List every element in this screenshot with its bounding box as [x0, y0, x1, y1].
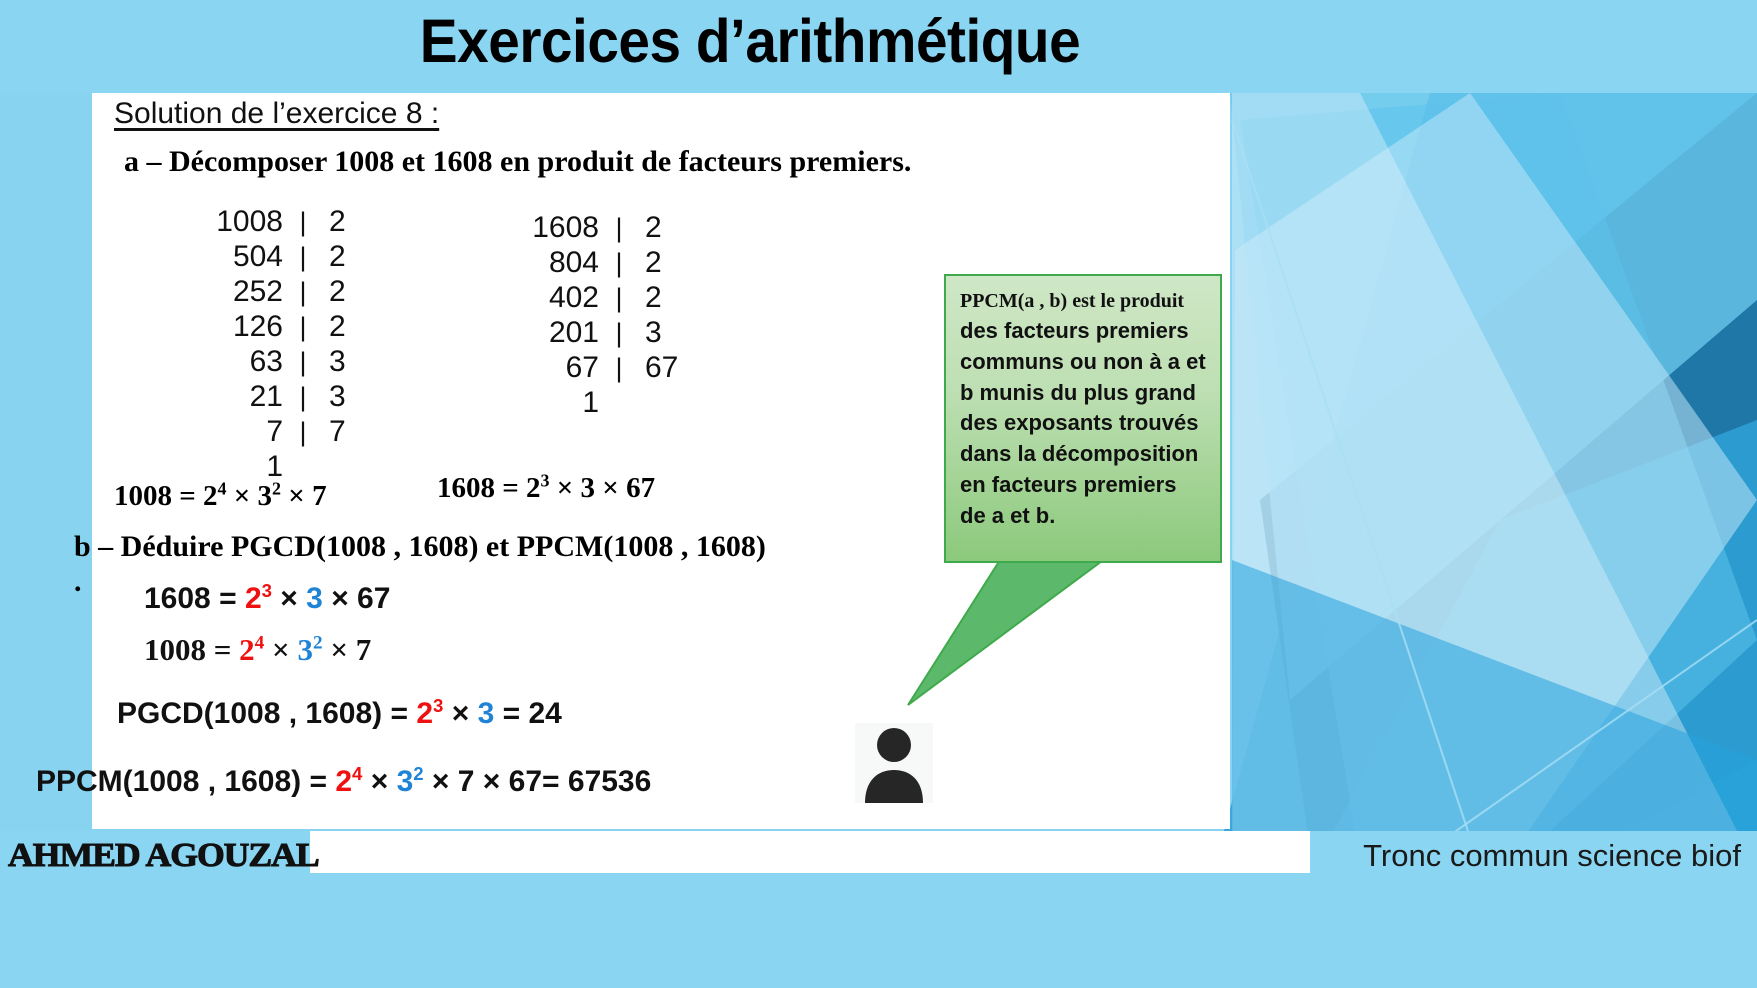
divider-bar-icon: |: [283, 415, 323, 450]
exponent-red: 3: [262, 580, 272, 601]
divisor: 2: [323, 205, 399, 239]
base-2-red: 2: [239, 632, 255, 667]
ppcm-lhs: PPCM(1008 , 1608) =: [36, 765, 335, 798]
exponent-red: 4: [255, 633, 265, 654]
divisor: 2: [323, 310, 399, 344]
dividend: 402: [504, 281, 599, 315]
table-row: 63 | 3: [188, 345, 399, 380]
decomposition-1608-lhs: 1608 =: [437, 472, 526, 504]
divider-bar-icon: |: [283, 275, 323, 310]
divisor: 3: [639, 316, 715, 350]
division-table-1608: 1608 | 2 804 | 2 402 | 2 201 | 3 67 | 67…: [504, 211, 715, 421]
dividend: 126: [188, 310, 283, 344]
times-operator: ×: [264, 632, 297, 667]
result-1008-lhs: 1008 =: [144, 632, 239, 667]
base-2-red: 2: [416, 697, 433, 730]
table-row: 201 | 3: [504, 316, 715, 351]
dividend: 63: [188, 345, 283, 379]
table-row: 1008 | 2: [188, 205, 399, 240]
divisor: 2: [323, 275, 399, 309]
exponent-blue: 2: [413, 763, 423, 784]
pgcd-result: PGCD(1008 , 1608) = 23 × 3 = 24: [117, 697, 562, 731]
exponent: 3: [541, 470, 550, 490]
footer-course-label: Tronc commun science biof: [1363, 838, 1741, 874]
times-operator: ×: [550, 472, 581, 504]
divisor: 3: [323, 345, 399, 379]
divider-bar-icon: |: [599, 246, 639, 281]
times-operator: ×: [595, 472, 626, 504]
base-2-red: 2: [245, 582, 262, 615]
table-row: 402 | 2: [504, 281, 715, 316]
bullet-marker: .: [74, 565, 82, 599]
decomposition-1608: 1608 = 23 × 3 × 67: [437, 472, 655, 505]
times-operator: ×: [443, 697, 477, 730]
divisor: 2: [639, 281, 715, 315]
base-3-blue: 3: [397, 765, 414, 798]
divider-bar-icon: |: [283, 205, 323, 240]
base-3: 3: [581, 472, 596, 504]
table-row: 21 | 3: [188, 380, 399, 415]
callout-box: PPCM(a , b) est le produit des facteurs …: [944, 274, 1222, 563]
pgcd-lhs: PGCD(1008 , 1608) =: [117, 697, 416, 730]
ppcm-result: PPCM(1008 , 1608) = 24 × 32 × 7 × 67= 67…: [36, 765, 651, 799]
divisor: 2: [639, 211, 715, 245]
dividend: 1: [504, 386, 599, 420]
dividend: 7: [188, 415, 283, 449]
exponent: 2: [272, 478, 281, 498]
times-operator: ×: [362, 765, 396, 798]
dividend: 1: [188, 450, 283, 484]
divider-bar-spacer: [599, 386, 639, 421]
times-operator: ×: [227, 480, 258, 512]
base-7: 7: [312, 480, 327, 512]
dividend: 201: [504, 316, 599, 350]
result-line-1608: 1608 = 23 × 3 × 67: [144, 582, 390, 616]
exponent-blue: 2: [313, 633, 323, 654]
decomposition-1008: 1008 = 24 × 32 × 7: [114, 480, 327, 513]
result-1608-lhs: 1608 =: [144, 582, 245, 615]
base-3: 3: [258, 480, 273, 512]
callout-first-line: PPCM(a , b) est le produit: [960, 290, 1206, 313]
divider-bar-icon: |: [599, 351, 639, 386]
table-row: 126 | 2: [188, 310, 399, 345]
divisor: 3: [323, 380, 399, 414]
base-3-blue: 3: [306, 582, 323, 615]
dividend: 21: [188, 380, 283, 414]
dividend: 252: [188, 275, 283, 309]
dividend: 67: [504, 351, 599, 385]
question-a-label: a – Décomposer 1008 et 1608 en produit d…: [124, 145, 911, 179]
exponent: 4: [218, 478, 227, 498]
base-67: 67: [626, 472, 655, 504]
times-operator: ×: [281, 480, 312, 512]
divider-bar-icon: |: [283, 310, 323, 345]
pgcd-value: = 24: [494, 697, 562, 730]
exponent-red: 3: [433, 695, 443, 716]
divider-bar-icon: |: [283, 345, 323, 380]
dividend: 804: [504, 246, 599, 280]
person-icon: [855, 723, 933, 803]
ppcm-value: × 7 × 67= 67536: [424, 765, 652, 798]
dividend: 504: [188, 240, 283, 274]
footer-white-strip: [310, 831, 1310, 873]
person-avatar: [855, 723, 933, 803]
divisor: 2: [323, 240, 399, 274]
exponent-red: 4: [352, 763, 362, 784]
table-row: 804 | 2: [504, 246, 715, 281]
result-1008-tail: × 7: [323, 632, 372, 667]
result-line-1008: 1008 = 24 × 32 × 7: [144, 632, 371, 668]
question-b-label: b – Déduire PGCD(1008 , 1608) et PPCM(10…: [74, 530, 766, 564]
divider-bar-icon: |: [283, 380, 323, 415]
table-row: 67 | 67: [504, 351, 715, 386]
times-operator: ×: [272, 582, 306, 615]
table-row: 504 | 2: [188, 240, 399, 275]
divider-bar-icon: |: [599, 281, 639, 316]
table-row: 1608 | 2: [504, 211, 715, 246]
division-table-1008: 1008 | 2 504 | 2 252 | 2 126 | 2 63 | 3 …: [188, 205, 399, 485]
divisor: 67: [639, 351, 715, 385]
base-2-red: 2: [335, 765, 352, 798]
result-1608-tail: × 67: [323, 582, 391, 615]
table-row: 1: [504, 386, 715, 421]
slide-title: Exercices d’arithmétique: [53, 6, 1448, 76]
dividend: 1008: [188, 205, 283, 239]
divider-bar-icon: |: [599, 316, 639, 351]
divisor: 7: [323, 415, 399, 449]
base-2: 2: [526, 472, 541, 504]
callout-body-text: des facteurs premiers communs ou non à a…: [960, 316, 1206, 532]
author-name: AHMED AGOUZAL: [8, 837, 319, 875]
divider-bar-icon: |: [599, 211, 639, 246]
table-row: 252 | 2: [188, 275, 399, 310]
dividend: 1608: [504, 211, 599, 245]
base-2: 2: [203, 480, 218, 512]
table-row: 7 | 7: [188, 415, 399, 450]
decomposition-1008-lhs: 1008 =: [114, 480, 203, 512]
solution-heading: Solution de l’exercice 8 :: [114, 97, 439, 131]
divisor: 2: [639, 246, 715, 280]
base-3-blue: 3: [297, 632, 313, 667]
divider-bar-icon: |: [283, 240, 323, 275]
base-3-blue: 3: [478, 697, 495, 730]
